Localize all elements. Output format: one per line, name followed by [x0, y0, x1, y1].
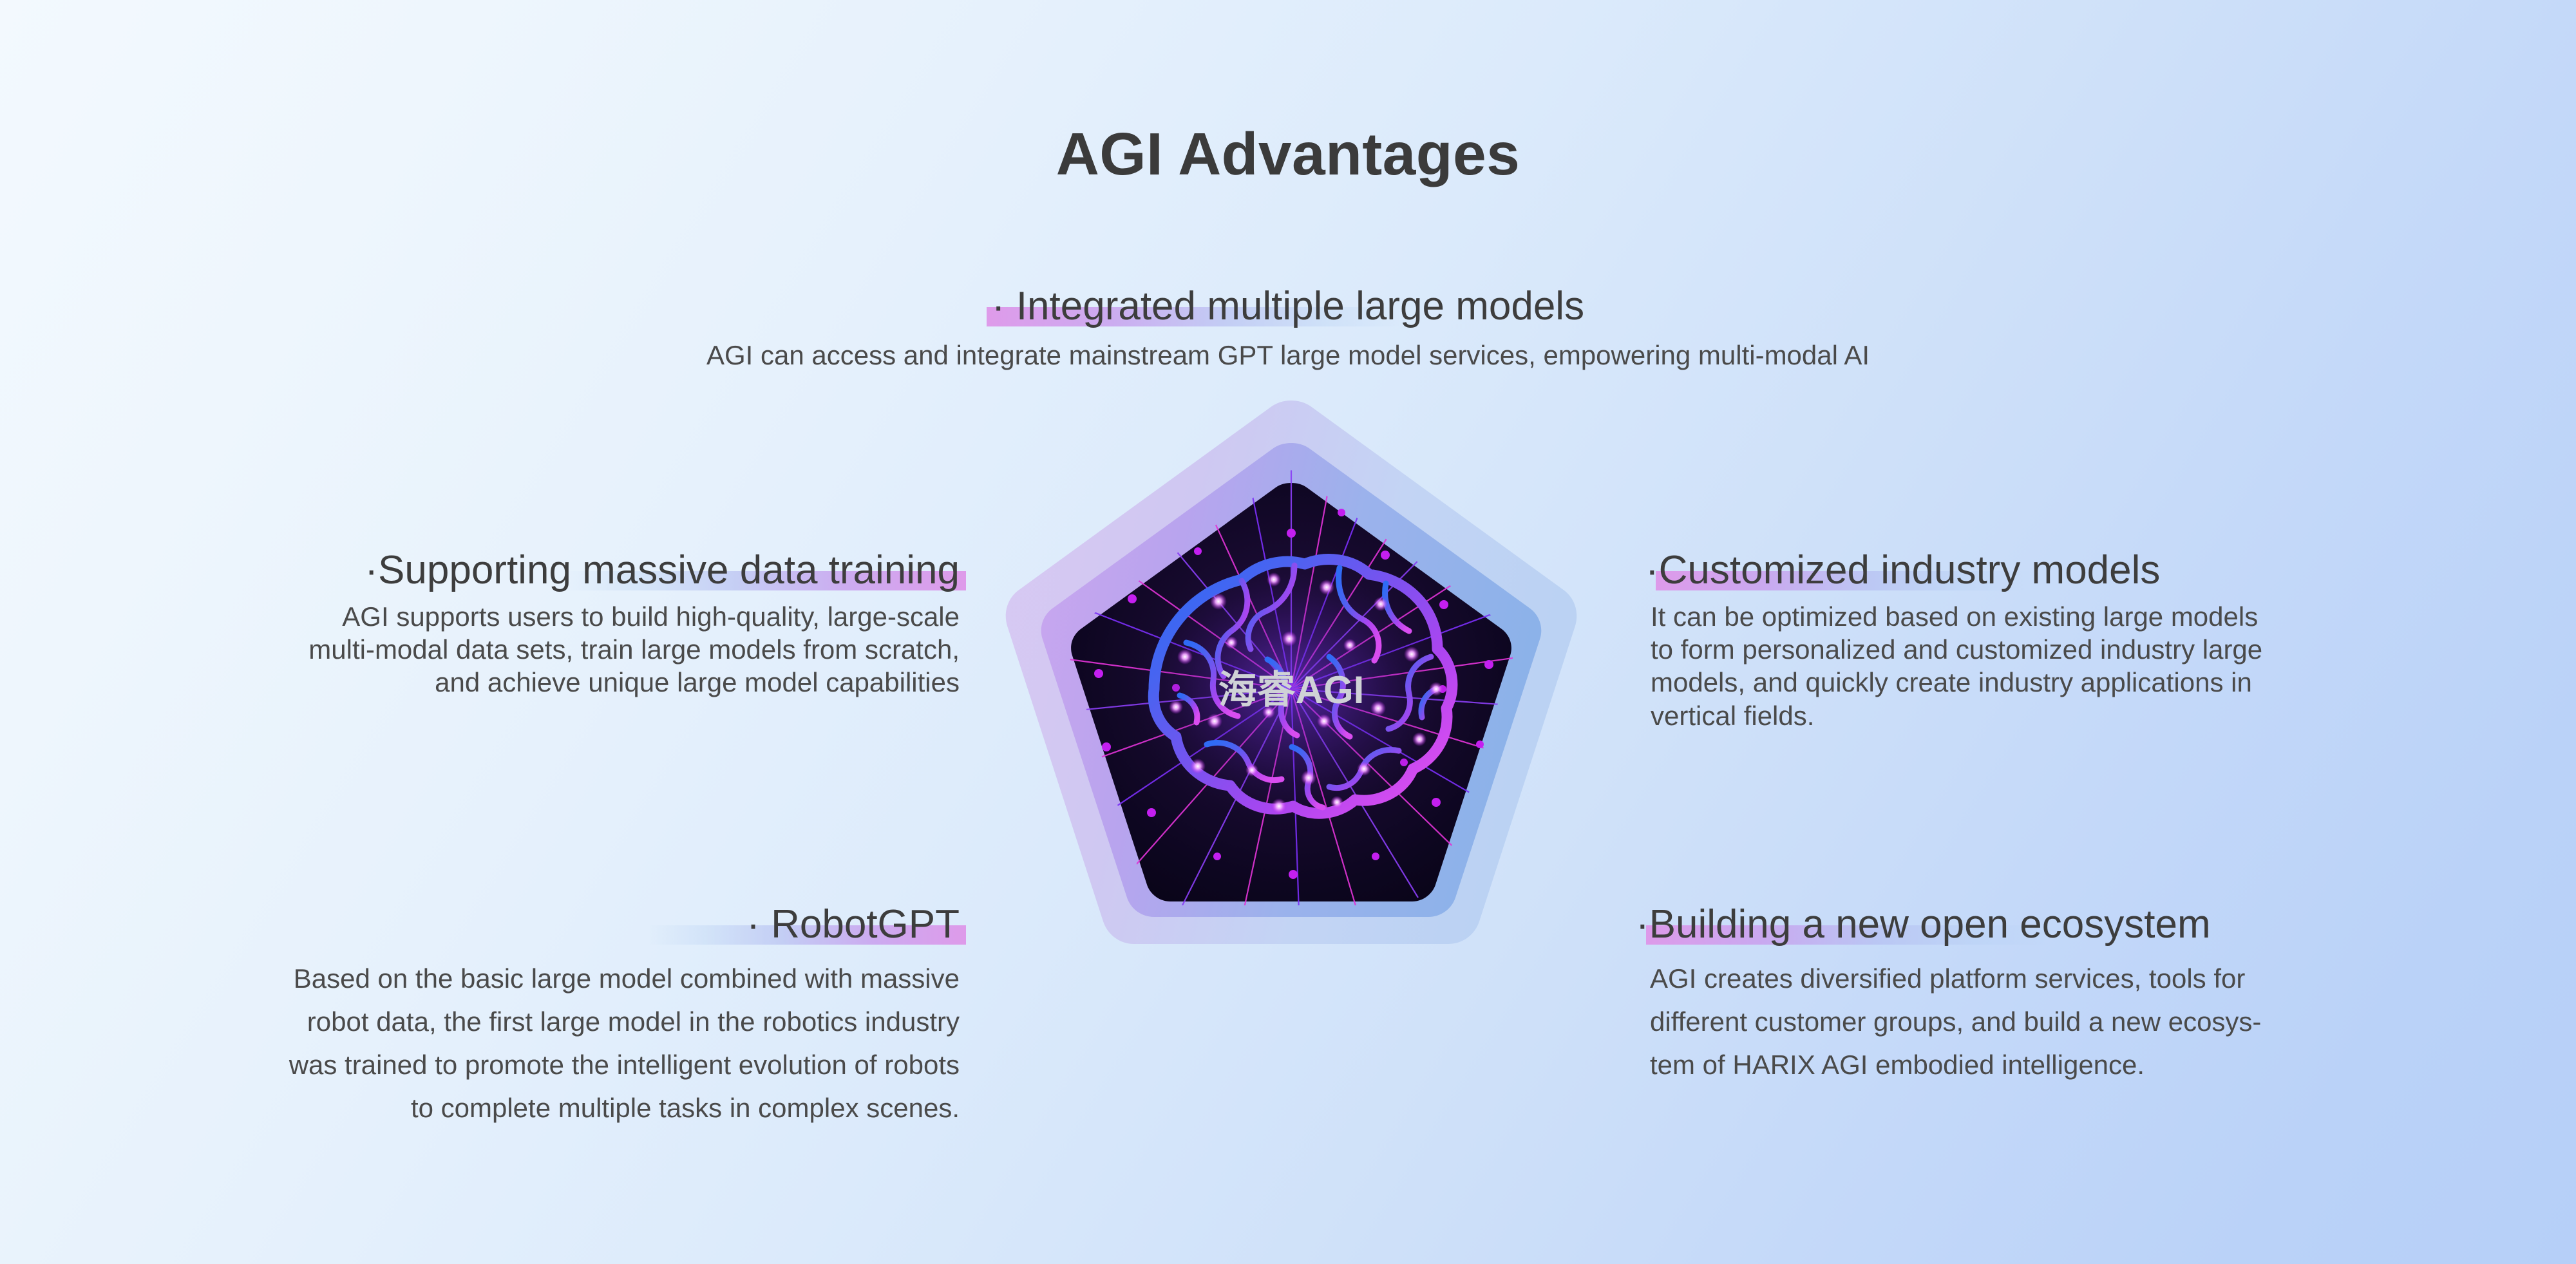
section-heading: ·Supporting massive data training: [365, 547, 960, 594]
bullet-icon: ·: [1645, 548, 1659, 592]
section-robotgpt: · RobotGPT Based on the basic large mode…: [39, 901, 960, 1130]
section-integrated-models: · Integrated multiple large models AGI c…: [489, 283, 2087, 372]
section-heading-label: Building a new open ecosystem: [1649, 902, 2211, 947]
body-line: Based on the basic large model combined …: [39, 957, 960, 1000]
section-heading: ·Customized industry models: [1645, 547, 2160, 594]
page-title: AGI Advantages: [0, 124, 2576, 184]
body-line: AGI can access and integrate mainstream …: [489, 339, 2087, 372]
section-body: AGI creates diversified platform service…: [1636, 957, 2557, 1087]
section-heading: ·Building a new open ecosystem: [1636, 901, 2211, 948]
section-customized-models: ·Customized industry models It can be op…: [1645, 547, 2566, 732]
bullet-icon: ·: [1636, 902, 1649, 947]
body-line: to complete multiple tasks in complex sc…: [39, 1086, 960, 1129]
section-heading-label: RobotGPT: [771, 902, 960, 947]
bullet-icon: ·: [365, 548, 378, 592]
body-line: models, and quickly create industry appl…: [1651, 666, 2566, 699]
section-data-training: ·Supporting massive data training AGI su…: [39, 547, 960, 699]
body-line: different customer groups, and build a n…: [1650, 1000, 2557, 1043]
section-body: Based on the basic large model combined …: [39, 957, 960, 1130]
bullet-icon: ·: [992, 284, 1005, 328]
section-heading: · RobotGPT: [746, 901, 960, 948]
section-open-ecosystem: ·Building a new open ecosystem AGI creat…: [1636, 901, 2557, 1086]
body-line: multi-modal data sets, train large model…: [39, 633, 960, 666]
section-heading-label: Customized industry models: [1659, 548, 2161, 592]
pentagon-brain-graphic: 海睿AGI: [992, 386, 1591, 1082]
body-line: to form personalized and customized indu…: [1651, 633, 2566, 666]
body-line: vertical fields.: [1651, 699, 2566, 732]
body-line: tem of HARIX AGI embodied intelligence.: [1650, 1043, 2557, 1086]
slide-canvas: AGI Advantages: [0, 0, 2576, 1264]
body-line: robot data, the first large model in the…: [39, 1000, 960, 1043]
section-heading-label: Integrated multiple large models: [1016, 284, 1584, 328]
section-heading: · Integrated multiple large models: [992, 283, 1584, 330]
center-logo-text: 海睿AGI: [1218, 668, 1365, 712]
body-line: and achieve unique large model capabilit…: [39, 666, 960, 699]
section-body: AGI can access and integrate mainstream …: [489, 339, 2087, 372]
body-line: was trained to promote the intelligent e…: [39, 1043, 960, 1086]
section-heading-label: Supporting massive data training: [378, 548, 960, 592]
body-line: It can be optimized based on existing la…: [1651, 600, 2566, 633]
bullet-icon: ·: [746, 902, 760, 947]
body-line: AGI creates diversified platform service…: [1650, 957, 2557, 1000]
section-body: AGI supports users to build high-quality…: [39, 600, 960, 699]
section-body: It can be optimized based on existing la…: [1645, 600, 2566, 732]
body-line: AGI supports users to build high-quality…: [39, 600, 960, 633]
